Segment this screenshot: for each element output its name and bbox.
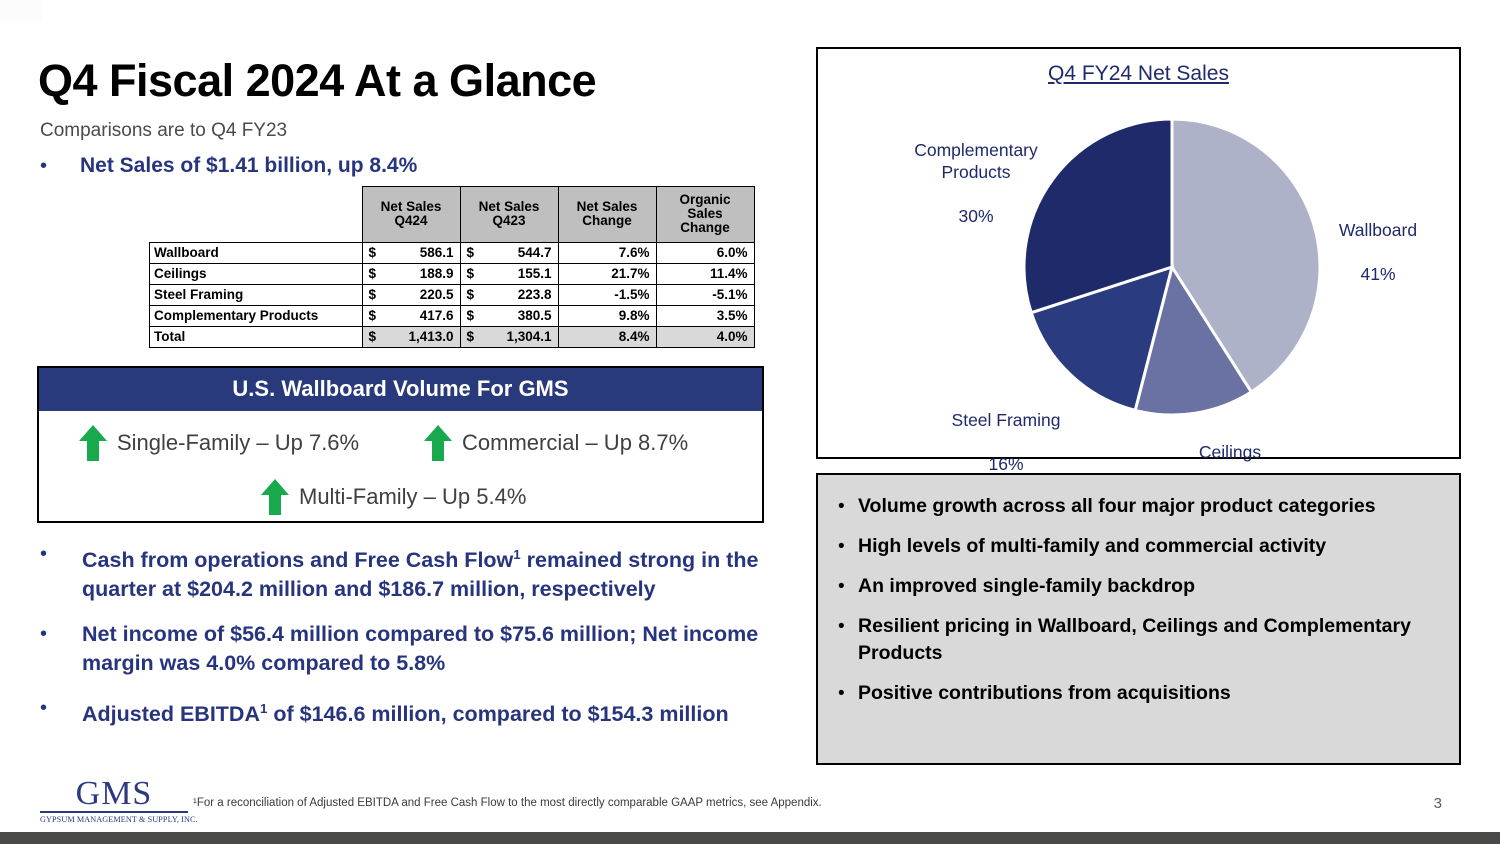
bullet-glyph: • [838,573,858,600]
list-item: • Resilient pricing in Wallboard, Ceilin… [838,613,1437,667]
pie-slices [1024,119,1320,415]
list-item: • Positive contributions from acquisitio… [838,680,1437,707]
gms-logo: GMS GYPSUM MANAGEMENT & SUPPLY, INC. [40,778,188,824]
pie-label-name: Ceilings [1170,441,1290,463]
bullet-glyph: • [838,533,858,560]
page-number: 3 [1434,795,1442,812]
bullet-text: Adjusted EBITDA1 of $146.6 million, comp… [82,694,729,729]
commentary-text: High levels of multi-family and commerci… [858,533,1326,560]
volume-item-multi-family: Multi-Family – Up 5.4% [261,479,526,515]
cell-q424: $1,413.0 [362,327,460,348]
commentary-text: Resilient pricing in Wallboard, Ceilings… [858,613,1437,667]
currency-symbol: $ [467,287,475,302]
lead-bullet-text: Net Sales of $1.41 billion, up 8.4% [80,153,417,179]
net-sales-pie-panel: Q4 FY24 Net Sales Complementary Products… [816,47,1461,459]
cell-net-change: 9.8% [558,306,656,327]
value: 380.5 [467,308,552,323]
bullet-text-part-1: Cash from operations and Free Cash Flow [82,548,513,572]
col-header-organic-sales-change: Organic Sales Change [656,187,754,243]
list-item: • Cash from operations and Free Cash Flo… [40,540,800,604]
page-subtitle: Comparisons are to Q4 FY23 [40,120,287,142]
pie-chart-svg [1022,117,1322,417]
pie-label-complementary-products: Complementary Products 30% [896,117,1056,249]
cell-organic-change: 3.5% [656,306,754,327]
cell-q424: $188.9 [362,264,460,285]
bullet-glyph: • [40,540,82,569]
header-line-1: Net Sales [479,199,540,214]
pie-label-value: 30% [896,205,1056,227]
footnote-text: ¹For a reconciliation of Adjusted EBITDA… [193,797,822,809]
cell-organic-change: 11.4% [656,264,754,285]
currency-symbol: $ [369,266,377,281]
value: 1,413.0 [369,329,454,344]
col-header-net-sales-change: Net Sales Change [558,187,656,243]
pie-label-name: Complementary Products [896,139,1056,183]
pie-label-name: Steel Framing [926,409,1086,431]
cell-organic-change: -5.1% [656,285,754,306]
arrow-up-icon [261,479,289,515]
currency-symbol: $ [369,308,377,323]
cell-net-change: -1.5% [558,285,656,306]
bullet-glyph: • [838,613,858,640]
header-line-2: Q423 [492,213,525,228]
cell-q423: $155.1 [460,264,558,285]
bullet-glyph: • [838,493,858,520]
currency-symbol: $ [369,329,377,344]
bullet-text: Net income of $56.4 million compared to … [82,620,800,678]
cell-net-change: 21.7% [558,264,656,285]
volume-item-label: Single-Family – Up 7.6% [117,430,359,456]
page-title: Q4 Fiscal 2024 At a Glance [38,55,596,107]
volume-item-single-family: Single-Family – Up 7.6% [79,425,359,461]
cell-q424: $586.1 [362,243,460,264]
volume-item-label: Commercial – Up 8.7% [462,430,688,456]
wallboard-volume-body: Single-Family – Up 7.6% Commercial – Up … [39,411,762,521]
cell-q423: $223.8 [460,285,558,306]
bullet-text-part-2: of $146.6 million, compared to $154.3 mi… [267,702,728,726]
header-line-2: Change [582,213,632,228]
cell-q424: $220.5 [362,285,460,306]
arrow-up-icon [424,425,452,461]
financial-highlights-list: • Cash from operations and Free Cash Flo… [40,540,800,745]
pie-label-value: 41% [1318,263,1438,285]
pie-label-wallboard: Wallboard 41% [1318,197,1438,307]
list-item: • Volume growth across all four major pr… [838,493,1437,520]
col-header-net-sales-q423: Net Sales Q423 [460,187,558,243]
footnote-marker: 1 [513,547,520,562]
value: 155.1 [467,266,552,281]
value: 223.8 [467,287,552,302]
value: 1,304.1 [467,329,552,344]
currency-symbol: $ [467,266,475,281]
cell-net-change: 8.4% [558,327,656,348]
cell-organic-change: 6.0% [656,243,754,264]
chart-title: Q4 FY24 Net Sales [818,62,1459,86]
cell-q423: $380.5 [460,306,558,327]
bullet-text-part-1: Adjusted EBITDA [82,702,260,726]
currency-symbol: $ [369,245,377,260]
logo-mark: GMS [40,778,188,810]
commentary-box: • Volume growth across all four major pr… [816,473,1461,765]
currency-symbol: $ [467,308,475,323]
commentary-text: Volume growth across all four major prod… [858,493,1376,520]
commentary-text: An improved single-family backdrop [858,573,1195,600]
bullet-text: Cash from operations and Free Cash Flow1… [82,540,800,604]
header-line-2: Q424 [394,213,427,228]
commentary-text: Positive contributions from acquisitions [858,680,1231,707]
cell-q423: $544.7 [460,243,558,264]
value: 586.1 [369,245,454,260]
table-row: Ceilings $188.9 $155.1 21.7% 11.4% [150,264,755,285]
bottom-bar [0,832,1500,844]
row-label: Complementary Products [150,306,363,327]
currency-symbol: $ [467,329,475,344]
table-corner-cell [150,187,363,243]
table-row: Complementary Products $417.6 $380.5 9.8… [150,306,755,327]
value: 220.5 [369,287,454,302]
corner-artifact [0,0,42,22]
value: 188.9 [369,266,454,281]
bullet-glyph: • [40,153,80,179]
volume-item-commercial: Commercial – Up 8.7% [424,425,688,461]
table-row-total: Total $1,413.0 $1,304.1 8.4% 4.0% [150,327,755,348]
logo-subtitle: GYPSUM MANAGEMENT & SUPPLY, INC. [40,815,188,824]
header-line-1: Net Sales [577,199,638,214]
table-header-row: Net Sales Q424 Net Sales Q423 Net Sales … [150,187,755,243]
header-line-1: Organic Sales [679,192,730,221]
col-header-net-sales-q424: Net Sales Q424 [362,187,460,243]
row-label: Total [150,327,363,348]
table-row: Wallboard $586.1 $544.7 7.6% 6.0% [150,243,755,264]
cell-net-change: 7.6% [558,243,656,264]
pie-label-name: Wallboard [1318,219,1438,241]
bullet-glyph: • [838,680,858,707]
list-item: • High levels of multi-family and commer… [838,533,1437,560]
pie-label-value: 16% [926,453,1086,475]
value: 544.7 [467,245,552,260]
slide-canvas: Q4 Fiscal 2024 At a Glance Comparisons a… [0,0,1500,844]
currency-symbol: $ [369,287,377,302]
cell-organic-change: 4.0% [656,327,754,348]
row-label: Ceilings [150,264,363,285]
header-line-2: Change [680,220,730,235]
volume-item-label: Multi-Family – Up 5.4% [299,484,526,510]
wallboard-volume-box: U.S. Wallboard Volume For GMS Single-Fam… [37,366,764,523]
cell-q423: $1,304.1 [460,327,558,348]
lead-bullet: • Net Sales of $1.41 billion, up 8.4% [40,153,780,179]
header-line-1: Net Sales [381,199,442,214]
list-item: • Net income of $56.4 million compared t… [40,620,800,678]
bullet-glyph: • [40,694,82,723]
cell-q424: $417.6 [362,306,460,327]
bullet-glyph: • [40,620,82,649]
value: 417.6 [369,308,454,323]
arrow-up-icon [79,425,107,461]
table-row: Steel Framing $220.5 $223.8 -1.5% -5.1% [150,285,755,306]
row-label: Steel Framing [150,285,363,306]
pie-chart [1022,117,1322,417]
wallboard-volume-header: U.S. Wallboard Volume For GMS [39,368,762,411]
list-item: • An improved single-family backdrop [838,573,1437,600]
net-sales-table: Net Sales Q424 Net Sales Q423 Net Sales … [149,186,755,348]
list-item: • Adjusted EBITDA1 of $146.6 million, co… [40,694,800,729]
row-label: Wallboard [150,243,363,264]
currency-symbol: $ [467,245,475,260]
